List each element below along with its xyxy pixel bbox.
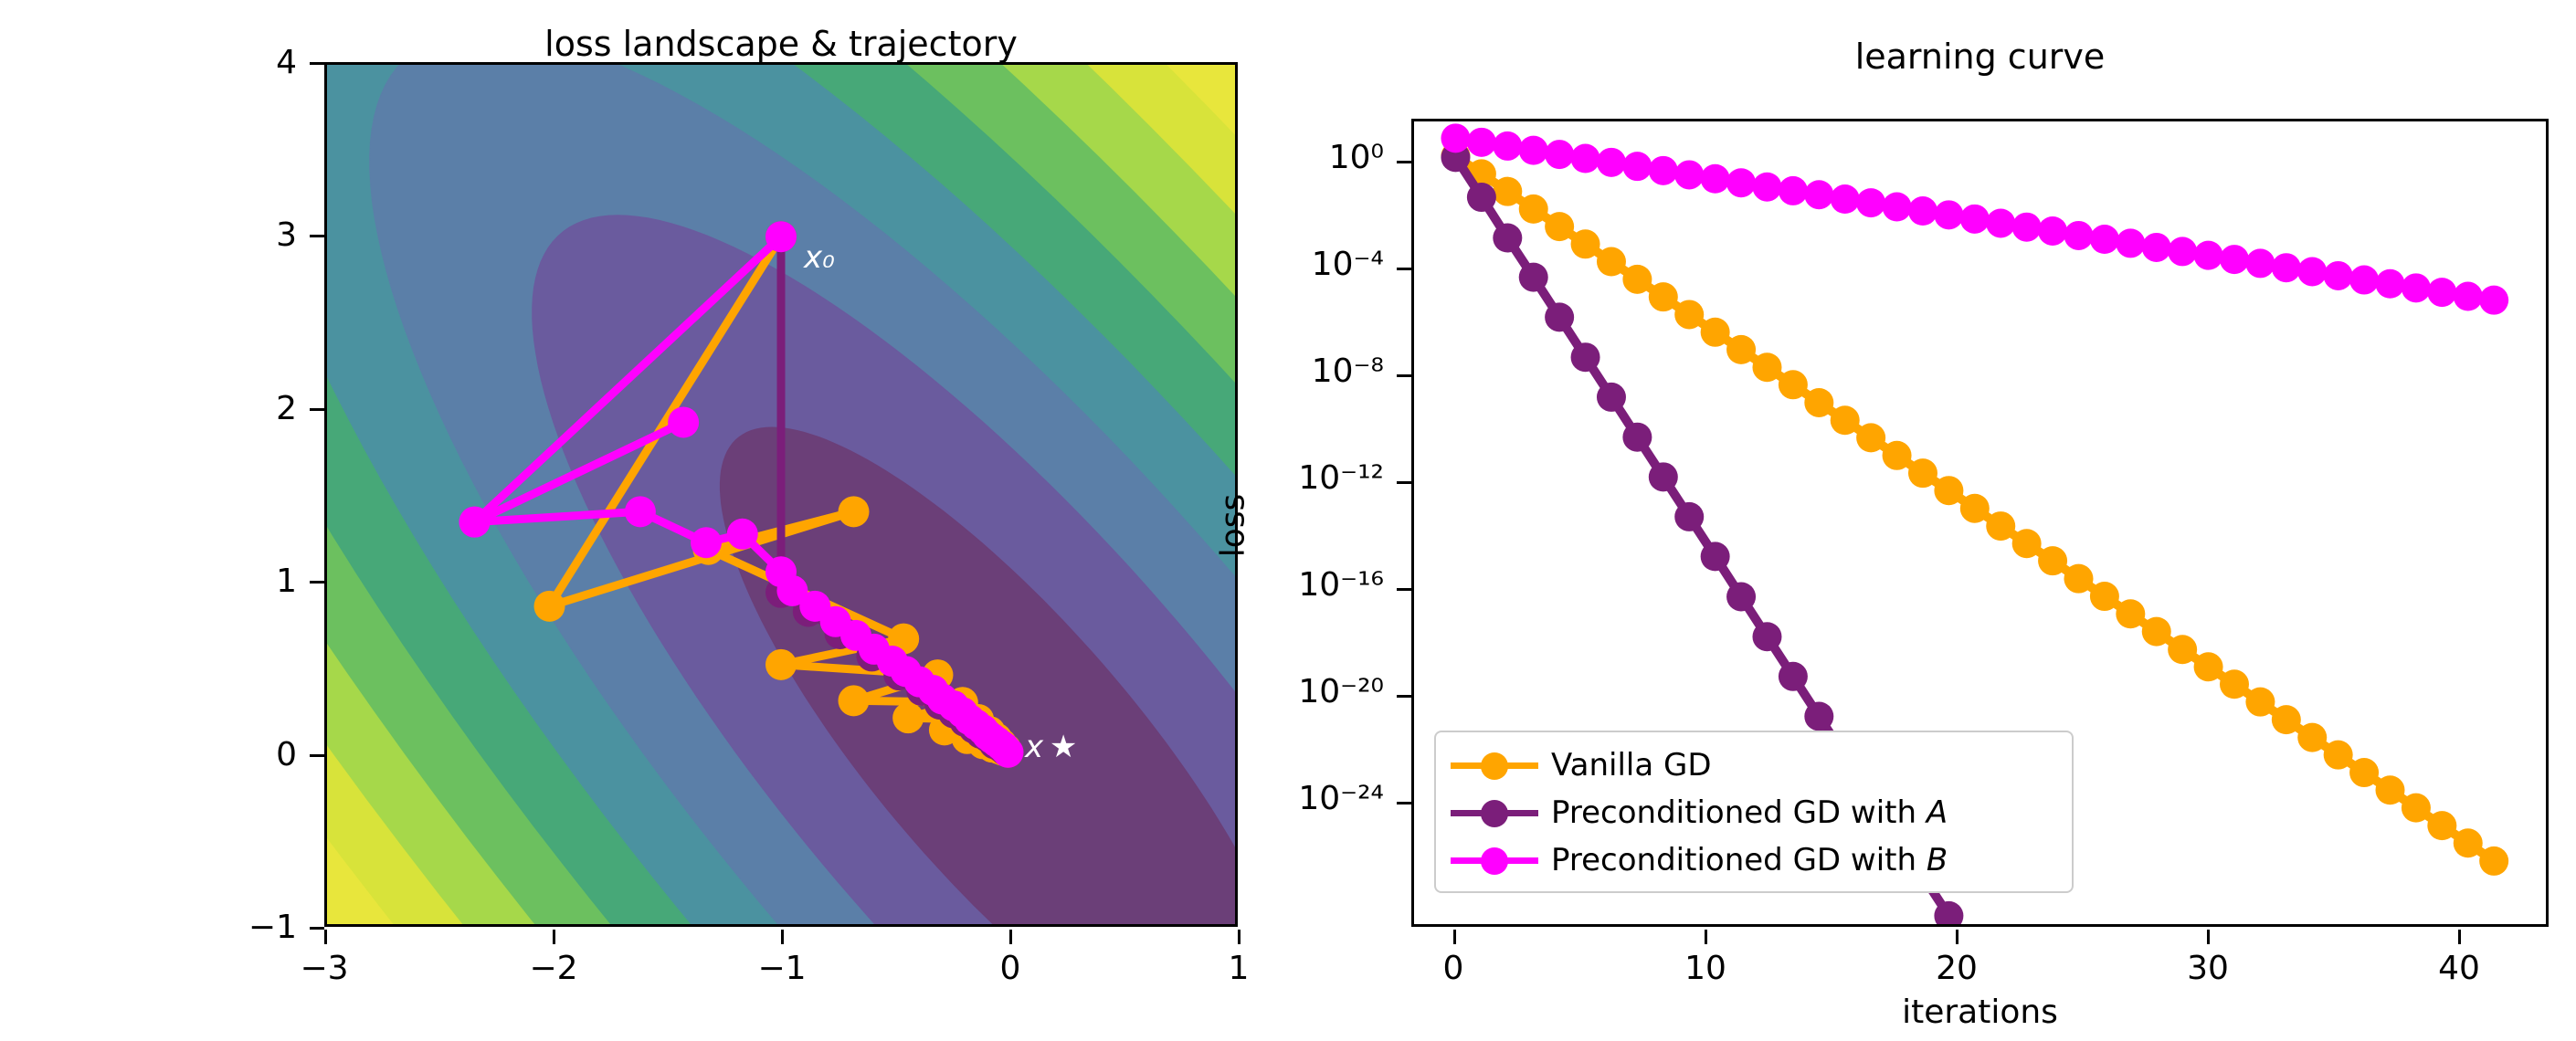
learning-curve-marker <box>2090 225 2119 254</box>
learning-curve-marker <box>2375 775 2404 804</box>
learning-curve-marker <box>1726 335 1756 364</box>
trajectory-marker <box>459 507 491 538</box>
optimum-point-label: x ★ <box>1025 729 1077 765</box>
learning-curve-marker <box>1493 177 1522 206</box>
learning-curve-marker <box>1571 144 1600 173</box>
right-ytick-em20 <box>1397 695 1411 698</box>
left-xtick-neg3 <box>324 930 327 944</box>
right-xtick-label-20: 20 <box>1911 950 2002 987</box>
loss-landscape-svg <box>327 65 1235 924</box>
right-xtick-20 <box>1956 930 1958 944</box>
legend-label-vanilla-gd: Vanilla GD <box>1551 747 1712 783</box>
learning-curve-marker <box>1752 352 1781 382</box>
trajectory-marker <box>727 519 758 550</box>
learning-curve-marker <box>1856 188 1885 217</box>
left-xtick-1 <box>1238 930 1240 944</box>
learning-curve-marker <box>1493 224 1522 253</box>
learning-curve-marker <box>2064 564 2093 594</box>
learning-curve-marker <box>1622 265 1652 294</box>
legend-label-precond-b: Preconditioned GD with B <box>1551 842 1948 878</box>
learning-curve-marker <box>2038 546 2067 575</box>
learning-curve-marker <box>1752 173 1781 202</box>
right-xtick-label-0: 0 <box>1408 950 1499 987</box>
learning-curve-marker <box>1701 318 1730 347</box>
learning-curve-marker <box>1467 128 1496 157</box>
learning-curve-marker <box>2012 213 2042 242</box>
learning-curve-marker <box>2245 248 2275 278</box>
learning-curve-marker <box>2038 216 2067 246</box>
learning-curve-marker <box>2116 228 2145 258</box>
right-xlabel-iterations: iterations <box>1411 994 2549 1031</box>
learning-curve-marker <box>1804 180 1833 209</box>
left-xtick-neg2 <box>553 930 555 944</box>
learning-curve-marker <box>2272 705 2301 734</box>
right-ytick-em12 <box>1397 481 1411 484</box>
learning-curve-marker <box>2402 273 2431 302</box>
learning-curve-marker <box>1674 502 1704 531</box>
left-xtick-label-neg2: −2 <box>508 950 599 987</box>
right-ytick-em16 <box>1397 588 1411 591</box>
learning-curve-marker <box>1701 542 1730 571</box>
trajectory-marker <box>765 649 797 680</box>
left-ytick-3 <box>310 235 324 237</box>
right-xtick-10 <box>1705 930 1707 944</box>
loss-landscape-axes <box>324 62 1238 927</box>
trajectory-marker <box>993 737 1024 768</box>
learning-curve-marker <box>2427 278 2456 307</box>
learning-curve-marker <box>1726 582 1756 611</box>
left-ytick-label-1: 1 <box>233 563 297 600</box>
learning-curve-marker <box>1597 247 1626 277</box>
right-ytick-em8 <box>1397 374 1411 377</box>
right-plot-title: learning curve <box>1411 37 2549 77</box>
learning-curve-marker <box>1649 282 1678 311</box>
left-ytick-2 <box>310 408 324 411</box>
learning-curve-marker <box>2220 245 2249 274</box>
left-ytick-1 <box>310 581 324 584</box>
trajectory-marker <box>625 496 656 527</box>
learning-curve-marker <box>1597 383 1626 412</box>
left-xtick-label-neg3: −3 <box>279 950 370 987</box>
learning-curve-marker <box>1493 131 1522 161</box>
learning-curve-marker <box>1986 208 2015 237</box>
trajectory-marker <box>839 496 870 527</box>
left-ytick-4 <box>310 62 324 65</box>
learning-curve-marker <box>1545 302 1574 331</box>
left-xtick-neg1 <box>781 930 784 944</box>
right-xtick-label-30: 30 <box>2162 950 2254 987</box>
learning-curve-marker <box>1571 342 1600 372</box>
learning-curve-marker <box>2064 221 2093 250</box>
learning-curve-marker <box>1960 205 1990 234</box>
learning-curve-marker <box>2194 241 2223 270</box>
learning-curve-marker <box>2375 269 2404 299</box>
left-plot-title: loss landscape & trajectory <box>324 24 1238 64</box>
right-xtick-label-10: 10 <box>1660 950 1751 987</box>
learning-curve-marker <box>1804 701 1833 731</box>
learning-curve-marker <box>1519 195 1548 224</box>
legend-swatch-precond-a <box>1451 789 1538 836</box>
learning-curve-marker <box>2297 723 2327 752</box>
learning-curve-marker <box>1674 300 1704 329</box>
learning-curve-marker <box>1779 370 1808 399</box>
learning-curve-marker <box>2090 582 2119 611</box>
learning-curve-marker <box>1883 441 1912 470</box>
learning-curve-marker <box>1571 229 1600 258</box>
learning-curve-marker <box>1649 156 1678 185</box>
figure-canvas: loss landscape & trajectory 4 3 2 1 0 −1… <box>0 0 2576 1041</box>
trajectory-marker <box>534 591 565 622</box>
right-ytick-em4 <box>1397 268 1411 270</box>
left-ytick-label-neg1: −1 <box>215 909 297 946</box>
learning-curve-marker <box>1934 200 1963 229</box>
learning-curve-marker <box>2012 529 2042 558</box>
learning-curve-marker <box>1519 136 1548 165</box>
right-ytick-label-em24: 10⁻²⁴ <box>1215 780 1384 817</box>
learning-curve-marker <box>1545 140 1574 169</box>
legend: Vanilla GD Preconditioned GD with A Prec… <box>1434 731 2074 893</box>
trajectory-marker <box>765 221 797 252</box>
learning-curve-marker <box>2142 233 2171 262</box>
right-ytick-label-em4: 10⁻⁴ <box>1233 246 1384 283</box>
legend-swatch-precond-b <box>1451 836 1538 884</box>
learning-curve-marker <box>2297 257 2327 286</box>
learning-curve-marker <box>2245 688 2275 717</box>
learning-curve-marker <box>1986 511 2015 541</box>
learning-curve-marker <box>1545 212 1574 241</box>
learning-curve-marker <box>2454 828 2483 857</box>
learning-curve-marker <box>1622 152 1652 181</box>
learning-curve-marker <box>2349 266 2379 295</box>
learning-curve-marker <box>1831 405 1860 435</box>
left-ytick-0 <box>310 754 324 757</box>
learning-curve-marker <box>2324 261 2353 290</box>
learning-curve-marker <box>1883 192 1912 221</box>
right-ytick-label-em12: 10⁻¹² <box>1215 459 1384 497</box>
left-ytick-label-0: 0 <box>233 736 297 773</box>
right-xtick-0 <box>1453 930 1456 944</box>
right-xtick-30 <box>2207 930 2210 944</box>
learning-curve-marker <box>2194 652 2223 681</box>
learning-curve-marker <box>1908 458 1937 488</box>
learning-curve-marker <box>1441 123 1470 152</box>
right-ytick-e0 <box>1397 161 1411 163</box>
learning-curve-marker <box>1467 183 1496 212</box>
right-ytick-label-em8: 10⁻⁸ <box>1233 352 1384 390</box>
learning-curve-marker <box>1779 662 1808 691</box>
legend-item-precond-a[interactable]: Preconditioned GD with A <box>1451 789 2057 836</box>
learning-curve-marker <box>1831 184 1860 214</box>
legend-swatch-vanilla-gd <box>1451 741 1538 789</box>
learning-curve-marker <box>2324 741 2353 770</box>
right-xtick-label-40: 40 <box>2413 950 2505 987</box>
learning-curve-marker <box>1726 168 1756 197</box>
left-ytick-label-3: 3 <box>233 216 297 254</box>
left-xtick-label-neg1: −1 <box>736 950 828 987</box>
right-ytick-label-e0: 10⁰ <box>1233 139 1384 176</box>
left-ytick-label-4: 4 <box>233 44 297 81</box>
learning-curve-marker <box>1908 196 1937 226</box>
learning-curve-marker <box>2168 237 2197 266</box>
right-ytick-em24 <box>1397 802 1411 804</box>
learning-curve-marker <box>1622 423 1652 452</box>
right-ytick-label-em20: 10⁻²⁰ <box>1215 673 1384 710</box>
legend-item-vanilla-gd[interactable]: Vanilla GD <box>1451 741 2057 789</box>
learning-curve-marker <box>1597 148 1626 177</box>
start-point-label: x₀ <box>804 239 835 276</box>
legend-label-precond-a: Preconditioned GD with A <box>1551 794 1948 831</box>
learning-curve-marker <box>1779 176 1808 205</box>
trajectory-marker <box>668 406 699 437</box>
learning-curve-marker <box>1519 263 1548 292</box>
learning-curve-marker <box>2116 599 2145 628</box>
legend-item-precond-b[interactable]: Preconditioned GD with B <box>1451 836 2057 884</box>
learning-curve-marker <box>2142 617 2171 647</box>
learning-curve-marker <box>1856 423 1885 452</box>
learning-curve-marker <box>1804 388 1833 417</box>
learning-curve-marker <box>1960 494 1990 523</box>
learning-curve-marker <box>2168 635 2197 664</box>
left-ytick-neg1 <box>310 927 324 930</box>
learning-curve-marker <box>2402 794 2431 823</box>
left-xtick-label-0: 0 <box>965 950 1056 987</box>
learning-curve-marker <box>2479 286 2508 315</box>
learning-curve-marker <box>2349 758 2379 787</box>
learning-curve-marker <box>1934 476 1963 505</box>
learning-curve-marker <box>2427 811 2456 840</box>
learning-curve-marker <box>1701 164 1730 194</box>
right-ytick-label-em16: 10⁻¹⁶ <box>1215 566 1384 604</box>
trajectory-marker <box>839 685 870 716</box>
learning-curve-marker <box>2220 669 2249 699</box>
left-xtick-0 <box>1009 930 1012 944</box>
learning-curve-marker <box>1752 622 1781 651</box>
learning-curve-marker <box>1649 462 1678 491</box>
trajectory-marker <box>892 702 924 733</box>
learning-curve-marker <box>2454 282 2483 311</box>
learning-curve-marker <box>2272 253 2301 282</box>
left-ytick-label-2: 2 <box>233 390 297 427</box>
learning-curve-marker <box>2479 846 2508 876</box>
right-xtick-40 <box>2458 930 2461 944</box>
trajectory-marker <box>691 527 722 558</box>
learning-curve-marker <box>1674 160 1704 189</box>
left-xtick-label-1: 1 <box>1193 950 1284 987</box>
